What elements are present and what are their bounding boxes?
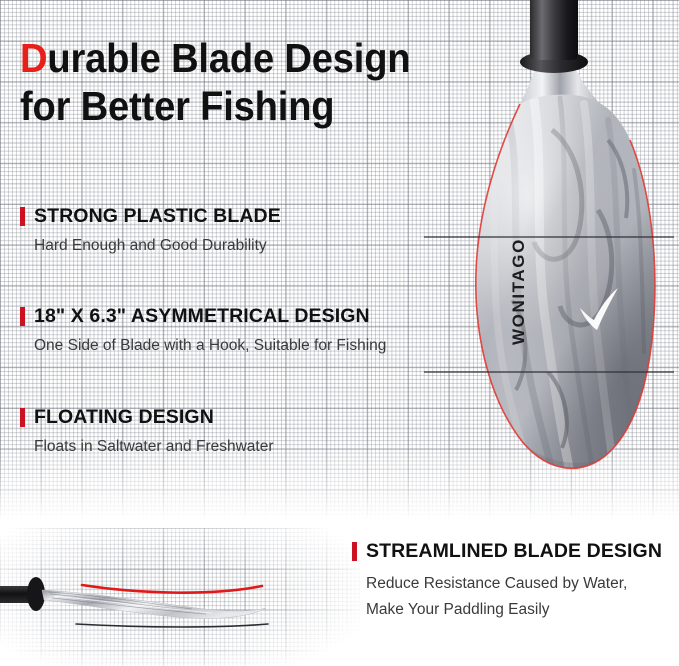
red-bullet-bar-icon [20,408,25,427]
blade-body [462,85,667,492]
feature-subtitle: Reduce Resistance Caused by Water, Make … [366,571,662,623]
feature-asymmetrical-design: 18" X 6.3" ASYMMETRICAL DESIGN One Side … [20,305,386,357]
feature-subtitle: One Side of Blade with a Hook, Suitable … [34,335,386,357]
title-line-1-rest: urable Blade Design [47,35,410,81]
red-bullet-bar-icon [20,207,25,226]
feature-heading: 18" X 6.3" ASYMMETRICAL DESIGN [20,305,386,327]
feature-title: 18" X 6.3" ASYMMETRICAL DESIGN [34,305,370,327]
feature-subtitle: Floats in Saltwater and Freshwater [34,436,274,458]
page-title-line-1: Durable Blade Design [20,34,392,82]
brand-text: WONITAGO [509,238,528,345]
feature-subtitle-line-1: Reduce Resistance Caused by Water, [366,571,662,597]
feature-subtitle: Hard Enough and Good Durability [34,235,281,257]
red-bullet-bar-icon [352,542,357,561]
red-bullet-bar-icon [20,307,25,326]
profile-curvature-arc-red [82,585,262,593]
feature-floating-design: FLOATING DESIGN Floats in Saltwater and … [20,406,274,458]
profile-collar [27,577,45,611]
feature-title: STRONG PLASTIC BLADE [34,205,281,227]
feature-title: STREAMLINED BLADE DESIGN [366,540,662,562]
product-image-blade-front: WONITAGO [402,0,679,500]
feature-strong-plastic-blade: STRONG PLASTIC BLADE Hard Enough and Goo… [20,205,281,257]
title-drop-cap: D [20,35,47,81]
feature-streamlined-blade-design: STREAMLINED BLADE DESIGN Reduce Resistan… [352,540,662,623]
paddle-shaft [530,0,578,60]
feature-subtitle-line-2: Make Your Paddling Easily [366,597,662,623]
page-title-line-2: for Better Fishing [20,82,392,130]
product-image-blade-profile [0,548,310,658]
feature-heading: STREAMLINED BLADE DESIGN [352,540,662,562]
feature-heading: FLOATING DESIGN [20,406,274,428]
page-title: Durable Blade Design for Better Fishing [20,34,420,130]
profile-baseline [76,624,268,627]
infographic-page: Durable Blade Design for Better Fishing … [0,0,679,666]
feature-heading: STRONG PLASTIC BLADE [20,205,281,227]
feature-title: FLOATING DESIGN [34,406,214,428]
